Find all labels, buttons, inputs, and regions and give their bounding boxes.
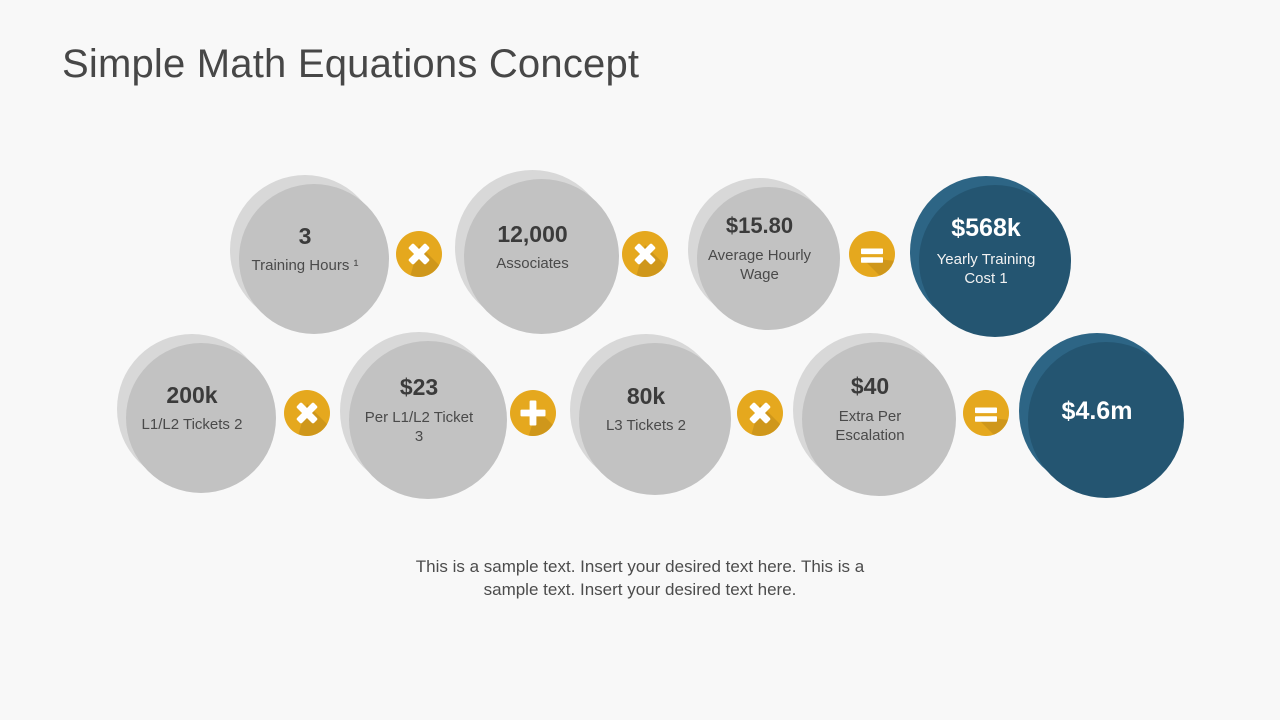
slide-canvas: Simple Math Equations Concept 3 Training…	[0, 0, 1280, 720]
equals-glyph	[849, 231, 895, 277]
metric-bubble-associates[interactable]: 12,000 Associates	[455, 170, 610, 325]
result-bubble-yearly-training-cost[interactable]: $568k Yearly Training Cost 1	[910, 176, 1062, 328]
caption-line-2: sample text. Insert your desired text he…	[340, 579, 940, 602]
metric-bubble-hourly-wage[interactable]: $15.80 Average Hourly Wage	[688, 178, 831, 321]
metric-label: Associates	[473, 254, 593, 274]
metric-label: Per L1/L2 Ticket 3	[364, 408, 474, 447]
operator-equals-icon	[963, 390, 1009, 436]
metric-value: 12,000	[497, 222, 567, 246]
metric-label: Training Hours ¹	[251, 256, 359, 276]
multiply-glyph	[284, 390, 330, 436]
operator-plus-icon	[510, 390, 556, 436]
metric-label: L1/L2 Tickets 2	[136, 415, 248, 435]
metric-bubble-per-l1l2-ticket[interactable]: $23 Per L1/L2 Ticket 3	[340, 332, 498, 490]
operator-multiply-icon	[622, 231, 668, 277]
metric-value: $15.80	[726, 214, 793, 237]
metric-bubble-training-hours[interactable]: 3 Training Hours ¹	[230, 175, 380, 325]
multiply-glyph	[737, 390, 783, 436]
metric-value: 200k	[166, 383, 217, 407]
metric-label: L3 Tickets 2	[587, 416, 705, 436]
metric-bubble-l3-tickets[interactable]: 80k L3 Tickets 2	[570, 334, 722, 486]
result-label: Yearly Training Cost 1	[924, 250, 1048, 289]
result-value: $4.6m	[1062, 398, 1133, 424]
metric-value: $40	[851, 374, 889, 398]
caption-text: This is a sample text. Insert your desir…	[340, 556, 940, 602]
metric-label: Extra Per Escalation	[818, 407, 922, 446]
equals-glyph	[963, 390, 1009, 436]
metric-bubble-l1l2-tickets[interactable]: 200k L1/L2 Tickets 2	[117, 334, 267, 484]
plus-glyph	[510, 390, 556, 436]
metric-bubble-extra-per-escalation[interactable]: $40 Extra Per Escalation	[793, 333, 947, 487]
operator-equals-icon	[849, 231, 895, 277]
operator-multiply-icon	[737, 390, 783, 436]
metric-value: 80k	[627, 384, 665, 408]
result-bubble-total-cost[interactable]: $4.6m	[1019, 333, 1175, 489]
equation-row-2: 200k L1/L2 Tickets 2 $23	[0, 0, 1280, 720]
caption-line-1: This is a sample text. Insert your desir…	[340, 556, 940, 579]
result-value: $568k	[951, 215, 1021, 241]
metric-value: $23	[400, 375, 438, 399]
metric-label: Average Hourly Wage	[707, 246, 813, 285]
operator-multiply-icon	[284, 390, 330, 436]
multiply-glyph	[396, 231, 442, 277]
operator-multiply-icon	[396, 231, 442, 277]
metric-value: 3	[299, 224, 312, 248]
multiply-glyph	[622, 231, 668, 277]
